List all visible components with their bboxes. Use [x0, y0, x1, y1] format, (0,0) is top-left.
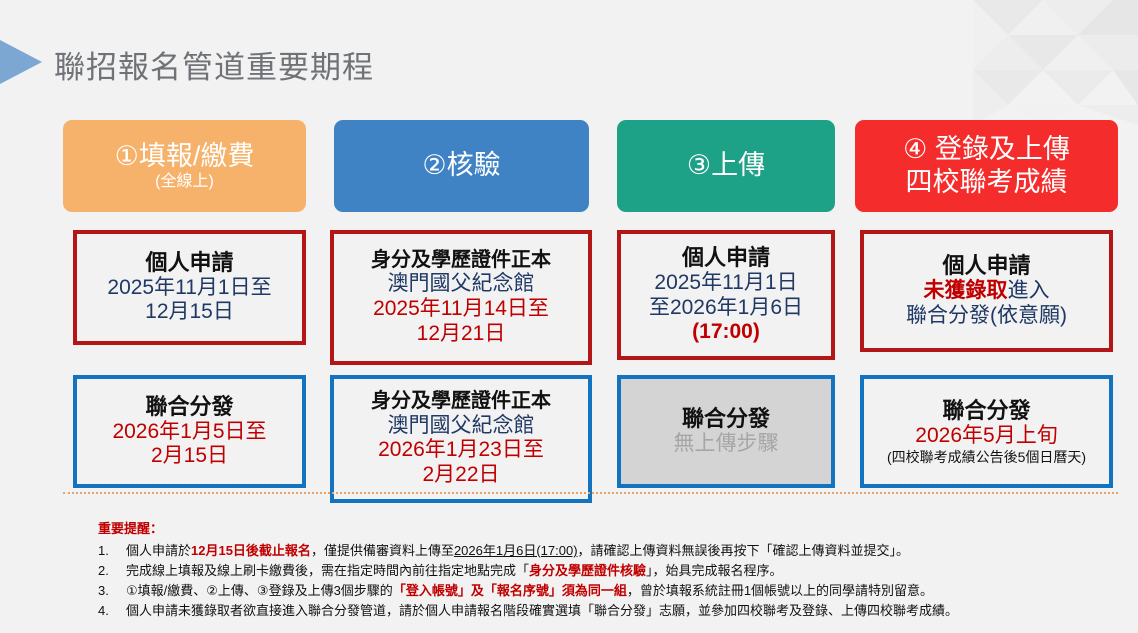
slide-root: 聯招報名管道重要期程 ①填報/繳費 (全線上) 個人申請 2025年11月1日至… [0, 0, 1138, 633]
card-step2-document-verification-second[interactable]: 身分及學歷證件正本 澳門國父紀念館 2026年1月23日至 2月22日 [330, 375, 592, 503]
card-date-line-2: 12月21日 [417, 322, 506, 347]
step-1-header[interactable]: ①填報/繳費 (全線上) [63, 120, 306, 212]
card-step1-joint-allocation[interactable]: 聯合分發 2026年1月5日至 2月15日 [73, 375, 306, 488]
note-seg-highlight: 身分及學歷證件核驗 [529, 563, 646, 578]
note-seg: ①填報/繳費、②上傳、③登錄及上傳3個步驟的 [126, 583, 393, 598]
card-title: 聯合分發 [682, 406, 770, 432]
card-step1-individual-application[interactable]: 個人申請 2025年11月1日至 12月15日 [73, 230, 306, 345]
important-notes-section: 重要提醒： 1. 個人申請於12月15日後截止報名，僅提供備審資料上傳至2026… [98, 518, 1118, 622]
note-seg: 」，始具完成報名程序。 [646, 563, 783, 578]
note-seg: ，請確認上傳資料無誤後再按下「確認上傳資料並提交」。 [578, 543, 910, 558]
step-2-header-title: ②核驗 [422, 151, 500, 180]
column-step-4: ④ 登錄及上傳 四校聯考成績 個人申請 未獲錄取進入 聯合分發(依意願) 聯合分… [855, 120, 1118, 212]
step-3-header[interactable]: ③上傳 [617, 120, 835, 212]
step-2-header[interactable]: ②核驗 [334, 120, 589, 212]
note-text: 個人申請未獲錄取者欲直接進入聯合分發管道，請於個人申請報名階段確實選填「聯合分發… [126, 601, 1118, 621]
card-title: 個人申請 [682, 245, 770, 271]
note-seg-highlight: 「登入帳號」及「報名序號」須為同一組 [393, 583, 627, 598]
card-title: 個人申請 [145, 250, 233, 276]
step-4-header-title-2: 四校聯考成績 [906, 166, 1068, 199]
note-seg-underline: 2026年1月6日(17:00) [454, 543, 578, 558]
note-item: 2. 完成線上填報及線上刷卡繳費後，需在指定時間內前往指定地點完成「身分及學歷證… [98, 561, 1118, 581]
note-number: 1. [98, 541, 126, 561]
card-title: 聯合分發 [145, 394, 233, 420]
column-step-1: ①填報/繳費 (全線上) 個人申請 2025年11月1日至 12月15日 聯合分… [63, 120, 306, 212]
note-seg-highlight: 12月15日後截止報名 [191, 543, 311, 558]
card-step3-joint-allocation-no-upload[interactable]: 聯合分發 無上傳步驟 [617, 375, 835, 488]
note-seg: ，曾於填報系統註冊1個帳號以上的同學請特別留意。 [627, 583, 933, 598]
note-seg: 完成線上填報及線上刷卡繳費後，需在指定時間內前往指定地點完成「 [126, 563, 529, 578]
step-4-header-title: ④ 登錄及上傳 [903, 133, 1070, 166]
card-title: 身分及學歷證件正本 [371, 390, 551, 414]
step-1-header-title: ①填報/繳費 [115, 142, 255, 171]
card-step4-individual-application[interactable]: 個人申請 未獲錄取進入 聯合分發(依意願) [860, 230, 1113, 352]
card-status-line: 未獲錄取進入 [924, 279, 1050, 304]
note-seg: 個人申請於 [126, 543, 191, 558]
note-text: 個人申請於12月15日後截止報名，僅提供備審資料上傳至2026年1月6日(17:… [126, 541, 1118, 561]
card-date-line-1: 2026年1月5日至 [112, 420, 266, 445]
card-date-line-2: 2月22日 [422, 463, 499, 488]
step-1-header-subtitle: (全線上) [155, 173, 214, 190]
notes-title: 重要提醒： [98, 518, 1118, 537]
timeline-board: ①填報/繳費 (全線上) 個人申請 2025年11月1日至 12月15日 聯合分… [0, 120, 1138, 510]
column-step-2: ②核驗 身分及學歷證件正本 澳門國父紀念館 2025年11月14日至 12月21… [330, 120, 592, 212]
note-number: 4. [98, 601, 126, 621]
card-step2-document-verification[interactable]: 身分及學歷證件正本 澳門國父紀念館 2025年11月14日至 12月21日 [330, 230, 592, 365]
card-step3-individual-application[interactable]: 個人申請 2025年11月1日 至2026年1月6日 (17:00) [617, 230, 835, 360]
step-4-header[interactable]: ④ 登錄及上傳 四校聯考成績 [855, 120, 1118, 212]
card-date-line-2: 至2026年1月6日 [649, 296, 803, 321]
card-status-highlight: 未獲錄取 [924, 279, 1008, 302]
card-title: 個人申請 [942, 253, 1030, 279]
card-step4-joint-allocation[interactable]: 聯合分發 2026年5月上旬 (四校聯考成績公告後5個日曆天) [860, 375, 1113, 488]
card-date-line-1: 2025年11月1日至 [107, 276, 271, 301]
card-date-note: (四校聯考成績公告後5個日曆天) [887, 449, 1086, 466]
step-3-header-title: ③上傳 [687, 151, 765, 180]
row-divider [63, 492, 1118, 494]
note-text: 完成線上填報及線上刷卡繳費後，需在指定時間內前往指定地點完成「身分及學歷證件核驗… [126, 561, 1118, 581]
note-number: 2. [98, 561, 126, 581]
card-date-line-1: 2026年1月23日至 [378, 438, 544, 463]
card-status-rest: 進入 [1008, 279, 1050, 302]
card-date-line-2: 2月15日 [151, 444, 228, 469]
card-title: 身分及學歷證件正本 [371, 249, 551, 273]
card-date-line-1: 2025年11月1日 [654, 271, 797, 296]
column-step-3: ③上傳 個人申請 2025年11月1日 至2026年1月6日 (17:00) 聯… [617, 120, 835, 212]
card-date-line-2: 12月15日 [145, 300, 234, 325]
card-status-line-2: 聯合分發(依意願) [906, 304, 1067, 329]
card-date-line-1: 2026年5月上旬 [915, 424, 1057, 449]
title-arrow-icon [0, 40, 42, 84]
card-deadline-time: (17:00) [692, 320, 760, 345]
note-number: 3. [98, 581, 126, 601]
card-note: 無上傳步驟 [674, 432, 779, 457]
note-item: 4. 個人申請未獲錄取者欲直接進入聯合分發管道，請於個人申請報名階段確實選填「聯… [98, 601, 1118, 621]
note-text: ①填報/繳費、②上傳、③登錄及上傳3個步驟的「登入帳號」及「報名序號」須為同一組… [126, 581, 1118, 601]
card-location: 澳門國父紀念館 [388, 414, 535, 439]
card-title: 聯合分發 [942, 398, 1030, 424]
note-seg: ，僅提供備審資料上傳至 [311, 543, 454, 558]
note-item: 3. ①填報/繳費、②上傳、③登錄及上傳3個步驟的「登入帳號」及「報名序號」須為… [98, 581, 1118, 601]
corner-geometric-decoration [973, 0, 1138, 125]
corner-pattern-icon [973, 0, 1138, 125]
page-title: 聯招報名管道重要期程 [54, 42, 374, 87]
card-location: 澳門國父紀念館 [388, 272, 535, 297]
note-item: 1. 個人申請於12月15日後截止報名，僅提供備審資料上傳至2026年1月6日(… [98, 541, 1118, 561]
card-date-line-1: 2025年11月14日至 [373, 297, 549, 322]
